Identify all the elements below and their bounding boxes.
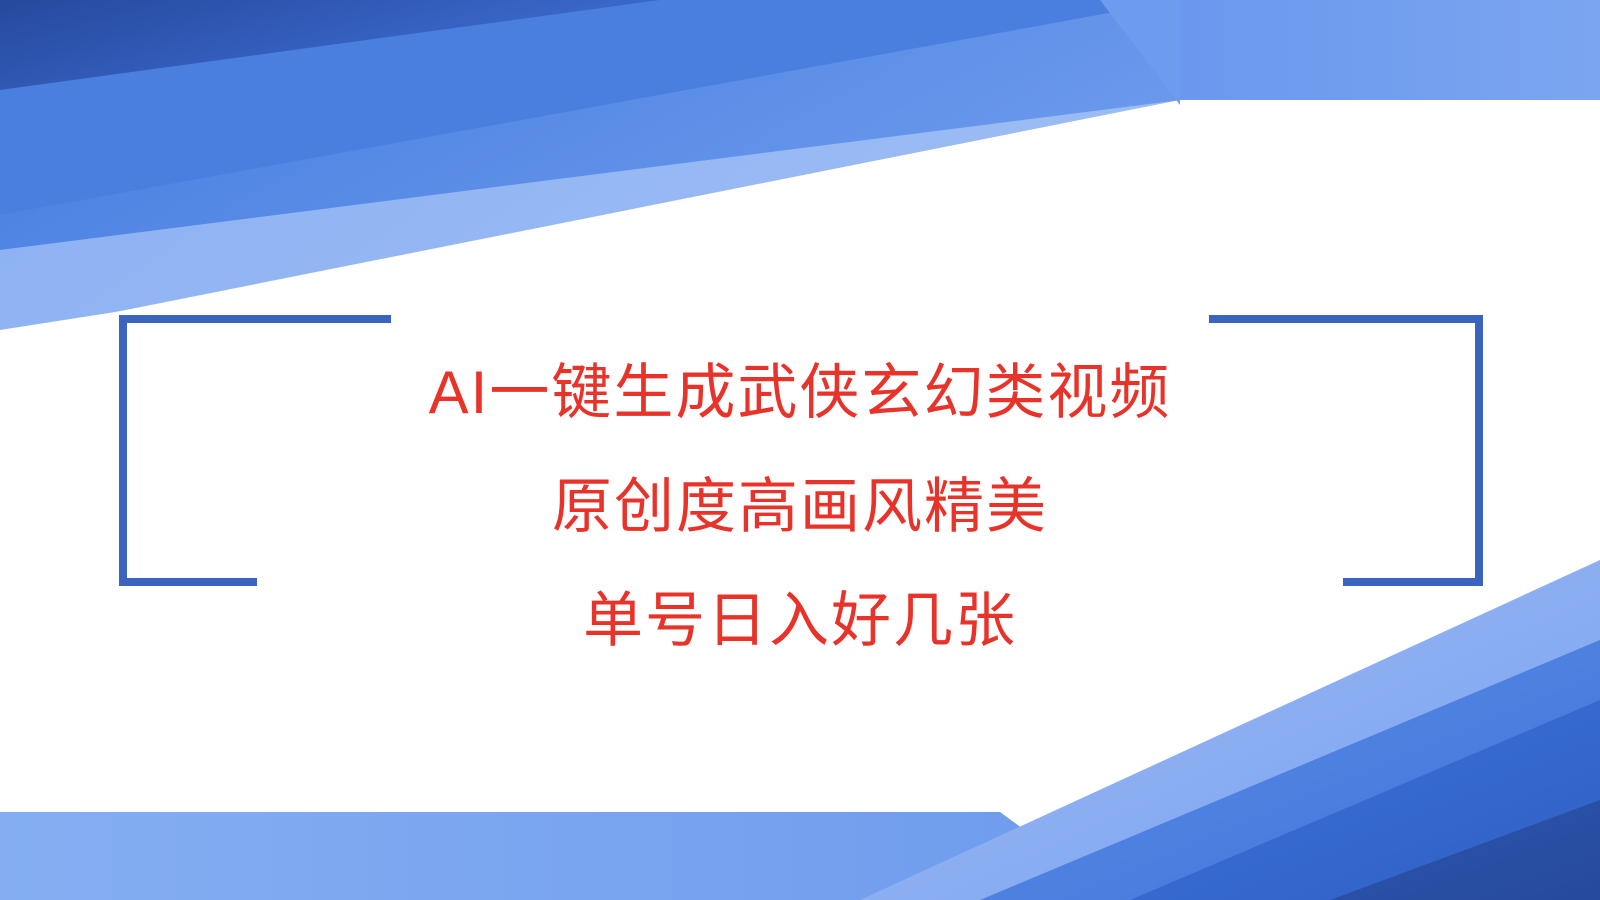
- headline-line-1: AI一键生成武侠玄幻类视频: [0, 336, 1600, 450]
- headline-line-3: 单号日入好几张: [0, 564, 1600, 678]
- headline-line-2: 原创度高画风精美: [0, 450, 1600, 564]
- bracket-right-top-arm: [1209, 315, 1483, 323]
- poster-canvas: AI一键生成武侠玄幻类视频 原创度高画风精美 单号日入好几张: [0, 0, 1600, 900]
- top-right-light-band: [1180, 0, 1600, 100]
- bracket-left-top-arm: [119, 315, 391, 323]
- headline-block: AI一键生成武侠玄幻类视频 原创度高画风精美 单号日入好几张: [0, 336, 1600, 678]
